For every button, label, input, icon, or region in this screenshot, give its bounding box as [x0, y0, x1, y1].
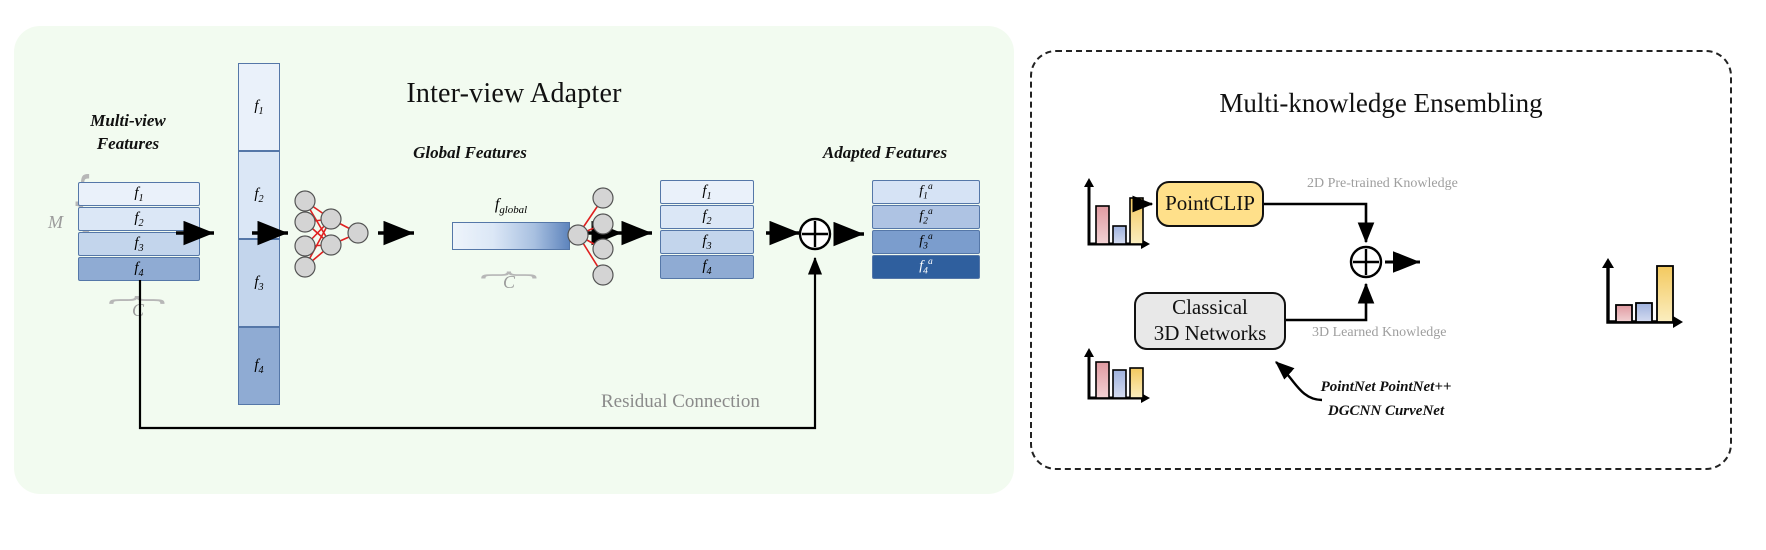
global-feature-bar [452, 222, 570, 250]
feature-label: f4 [254, 357, 263, 376]
feature-label: f2a [919, 207, 932, 226]
multi-view-features-label: Multi-view Features [58, 110, 198, 156]
dimension-label-c2: C [503, 272, 515, 293]
adapted-feature-box-1: f1a [872, 180, 980, 204]
feature-label: f3 [254, 274, 263, 293]
feature-label: f1 [134, 185, 143, 204]
concat-feature-segment-2: f2 [238, 151, 280, 239]
feature-label: f4 [134, 260, 143, 279]
multi-view-feature-box-3: f3 [78, 232, 200, 256]
feature-label: f2 [254, 186, 263, 205]
feature-label: f1 [254, 98, 263, 117]
multi-view-feature-box-1: f1 [78, 182, 200, 206]
concat-feature-segment-3: f3 [238, 239, 280, 327]
knowledge-2d-label: 2D Pre-trained Knowledge [1307, 176, 1458, 192]
feature-label: f3 [134, 235, 143, 254]
knowledge-3d-label: 3D Learned Knowledge [1312, 325, 1447, 341]
multi-view-feature-box-4: f4 [78, 257, 200, 281]
feature-label: f3a [919, 232, 932, 251]
feature-label: f1 [702, 183, 711, 202]
dimension-label-m: M [48, 212, 63, 233]
feature-label: f2 [702, 208, 711, 227]
concat-feature-segment-4: f4 [238, 327, 280, 405]
multi-view-feature-box-2: f2 [78, 207, 200, 231]
adapted-feature-box-2: f2a [872, 205, 980, 229]
feature-label: f1a [919, 182, 932, 201]
feature-label: f3 [702, 233, 711, 252]
global-vector-label: fglobal [452, 196, 570, 216]
right-panel-title: Multi-knowledge Ensembling [1032, 88, 1730, 119]
pointclip-node[interactable]: PointCLIP [1156, 181, 1264, 227]
residual-connection-label: Residual Connection [601, 391, 760, 413]
feature-label: f4 [702, 258, 711, 277]
reconstructed-feature-box-1: f1 [660, 180, 754, 204]
adapted-feature-box-4: f4a [872, 255, 980, 279]
dimension-label-c: C [132, 300, 144, 321]
page-title: Inter-view Adapter [14, 78, 1014, 110]
reconstructed-feature-box-3: f3 [660, 230, 754, 254]
adapted-feature-box-3: f3a [872, 230, 980, 254]
global-features-label: Global Features [390, 142, 550, 165]
adapted-features-label: Adapted Features [805, 142, 965, 165]
classical-3d-networks-node[interactable]: Classical 3D Networks [1134, 292, 1286, 350]
feature-label: f2 [134, 210, 143, 229]
reconstructed-feature-box-2: f2 [660, 205, 754, 229]
reconstructed-feature-box-4: f4 [660, 255, 754, 279]
concat-feature-segment-1: f1 [238, 63, 280, 151]
feature-label: f4a [919, 257, 932, 276]
network-names-list: PointNet PointNet++ DGCNN CurveNet [1296, 375, 1476, 423]
